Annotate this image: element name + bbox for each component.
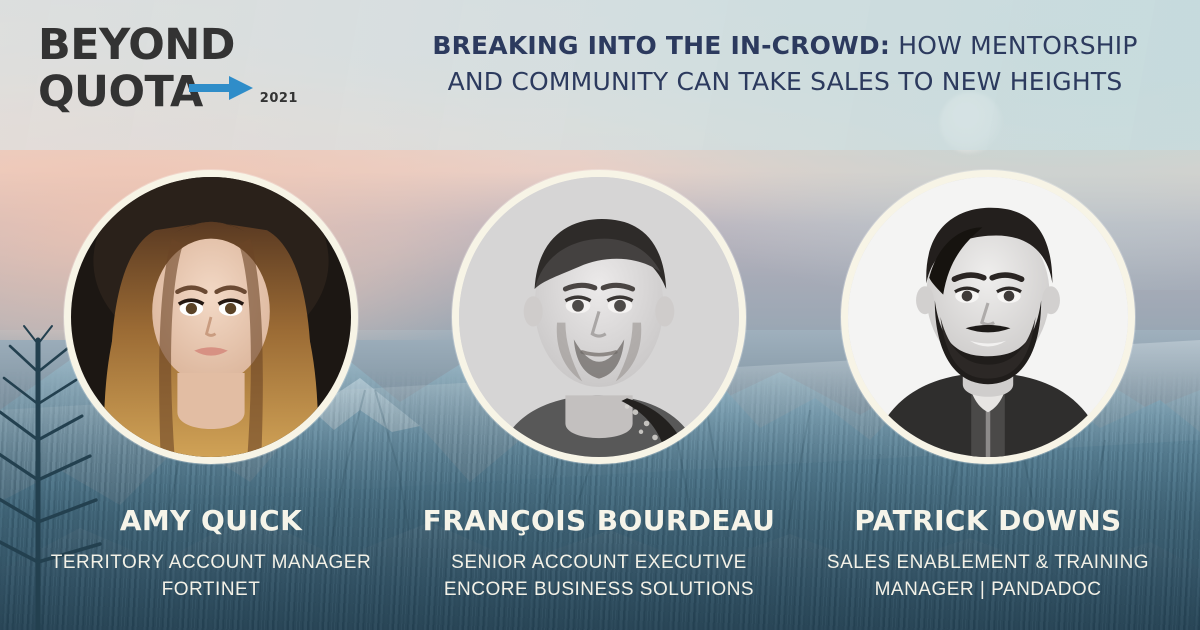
speaker-list: AMY QUICK TERRITORY ACCOUNT MANAGER FORT… (0, 0, 1200, 630)
speaker-card: FRANÇOIS BOURDEAU SENIOR ACCOUNT EXECUTI… (452, 170, 746, 604)
avatar[interactable] (452, 170, 746, 464)
speaker-role-line-1: TERRITORY ACCOUNT MANAGER (12, 550, 410, 577)
avatar[interactable] (841, 170, 1135, 464)
speaker-card: AMY QUICK TERRITORY ACCOUNT MANAGER FORT… (64, 170, 358, 604)
speaker-name: AMY QUICK (12, 506, 410, 537)
speaker-name: PATRICK DOWNS (789, 506, 1187, 537)
speaker-role-line-2: MANAGER | PANDADOC (789, 577, 1187, 604)
speaker-role: SENIOR ACCOUNT EXECUTIVE ENCORE BUSINESS… (400, 550, 798, 604)
speaker-role: SALES ENABLEMENT & TRAINING MANAGER | PA… (789, 550, 1187, 604)
francois-bourdeau-headshot (459, 177, 739, 457)
speaker-role-line-2: FORTINET (12, 577, 410, 604)
speaker-card: PATRICK DOWNS SALES ENABLEMENT & TRAININ… (841, 170, 1135, 604)
speaker-role-line-1: SALES ENABLEMENT & TRAINING (789, 550, 1187, 577)
avatar[interactable] (64, 170, 358, 464)
speaker-name: FRANÇOIS BOURDEAU (400, 506, 798, 537)
webinar-promo-banner: BEYOND QUOTA 2021 BREAKING INTO THE IN-C… (0, 0, 1200, 630)
amy-quick-headshot (71, 177, 351, 457)
speaker-role-line-1: SENIOR ACCOUNT EXECUTIVE (400, 550, 798, 577)
speaker-role-line-2: ENCORE BUSINESS SOLUTIONS (400, 577, 798, 604)
patrick-downs-headshot (848, 177, 1128, 457)
speaker-role: TERRITORY ACCOUNT MANAGER FORTINET (12, 550, 410, 604)
